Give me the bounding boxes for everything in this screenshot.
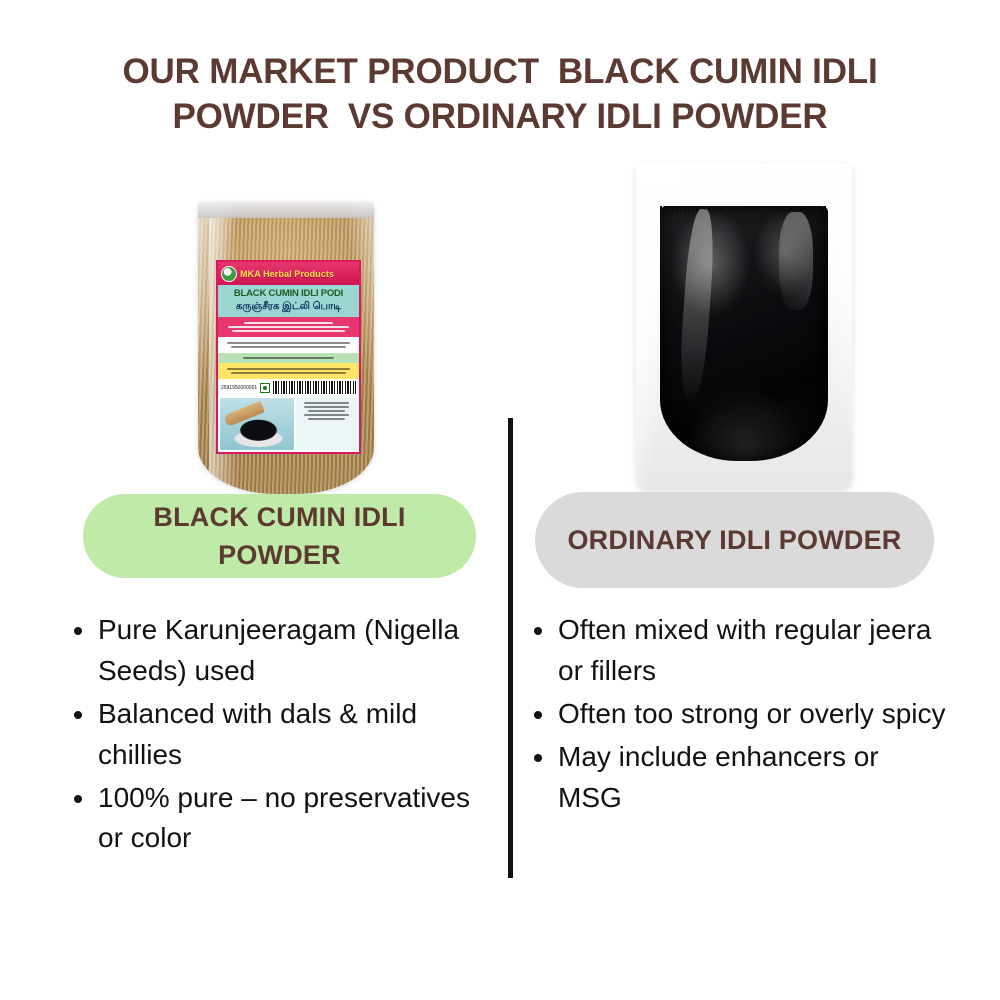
label-text-line <box>227 342 350 344</box>
black-cumin-pouch-graphic: MKA Herbal Products BLACK CUMIN IDLI POD… <box>198 202 374 494</box>
right-product-image <box>636 163 852 490</box>
page-title-line-2: POWDER VS ORDINARY IDLI POWDER <box>70 95 930 140</box>
pouch-gloss-secondary <box>779 212 814 310</box>
list-item: Balanced with dals & mild chillies <box>68 694 500 776</box>
package-label: MKA Herbal Products BLACK CUMIN IDLI POD… <box>216 260 361 454</box>
comparison-infographic: OUR MARKET PRODUCT BLACK CUMIN IDLI POWD… <box>0 0 1000 1000</box>
label-text-line <box>244 322 333 324</box>
label-green-strip <box>218 353 359 363</box>
label-text-line <box>304 406 349 408</box>
label-barcode-row: 2591950000001 <box>218 379 359 396</box>
label-usage-block <box>218 337 359 353</box>
label-text-line <box>232 330 345 332</box>
label-brand-name: MKA Herbal Products <box>240 269 334 279</box>
label-text-line <box>228 326 349 328</box>
label-text-line <box>243 357 334 359</box>
label-photo-row <box>218 396 359 452</box>
page-title: OUR MARKET PRODUCT BLACK CUMIN IDLI POWD… <box>70 50 930 140</box>
left-benefits-list: Pure Karunjeeragam (Nigella Seeds) used … <box>68 610 500 861</box>
list-item: 100% pure – no preservatives or color <box>68 778 500 860</box>
label-text-line <box>308 418 345 420</box>
list-item: May include enhancers or MSG <box>528 737 946 819</box>
page-title-line-1: OUR MARKET PRODUCT BLACK CUMIN IDLI <box>70 50 930 95</box>
ordinary-powder-pouch-graphic <box>636 163 852 490</box>
label-text-line <box>227 368 350 370</box>
label-serving-photo <box>220 398 294 450</box>
label-title-band: BLACK CUMIN IDLI PODI கருஞ்சீரக இட்லி பொ… <box>218 285 359 317</box>
list-item: Pure Karunjeeragam (Nigella Seeds) used <box>68 610 500 692</box>
label-highlight-block <box>218 363 359 379</box>
label-manufacturer-block <box>296 398 357 450</box>
list-item: Often too strong or overly spicy <box>528 694 946 735</box>
spoon-icon <box>223 401 265 427</box>
left-column-heading-badge: BLACK CUMIN IDLI POWDER <box>83 494 476 578</box>
label-text-line <box>304 402 349 404</box>
label-product-title-tamil: கருஞ்சீரக இட்லி பொடி <box>220 301 357 313</box>
label-ingredients-band <box>218 317 359 337</box>
label-text-line <box>231 346 346 348</box>
column-divider <box>508 418 513 878</box>
barcode-icon <box>273 381 356 394</box>
left-product-image: MKA Herbal Products BLACK CUMIN IDLI POD… <box>198 202 374 494</box>
list-item: Often mixed with regular jeera or filler… <box>528 610 946 692</box>
vegetarian-mark-icon <box>260 383 270 393</box>
label-text-line <box>308 410 345 412</box>
right-column-heading-badge: ORDINARY IDLI POWDER <box>535 492 934 588</box>
label-batch-number: 2591950000001 <box>221 385 257 391</box>
right-drawbacks-list: Often mixed with regular jeera or filler… <box>528 610 946 820</box>
label-brand-bar: MKA Herbal Products <box>218 262 359 285</box>
label-product-title: BLACK CUMIN IDLI PODI <box>220 288 357 299</box>
label-text-line <box>231 372 346 374</box>
label-text-line <box>304 414 349 416</box>
mka-logo-icon <box>221 266 237 282</box>
